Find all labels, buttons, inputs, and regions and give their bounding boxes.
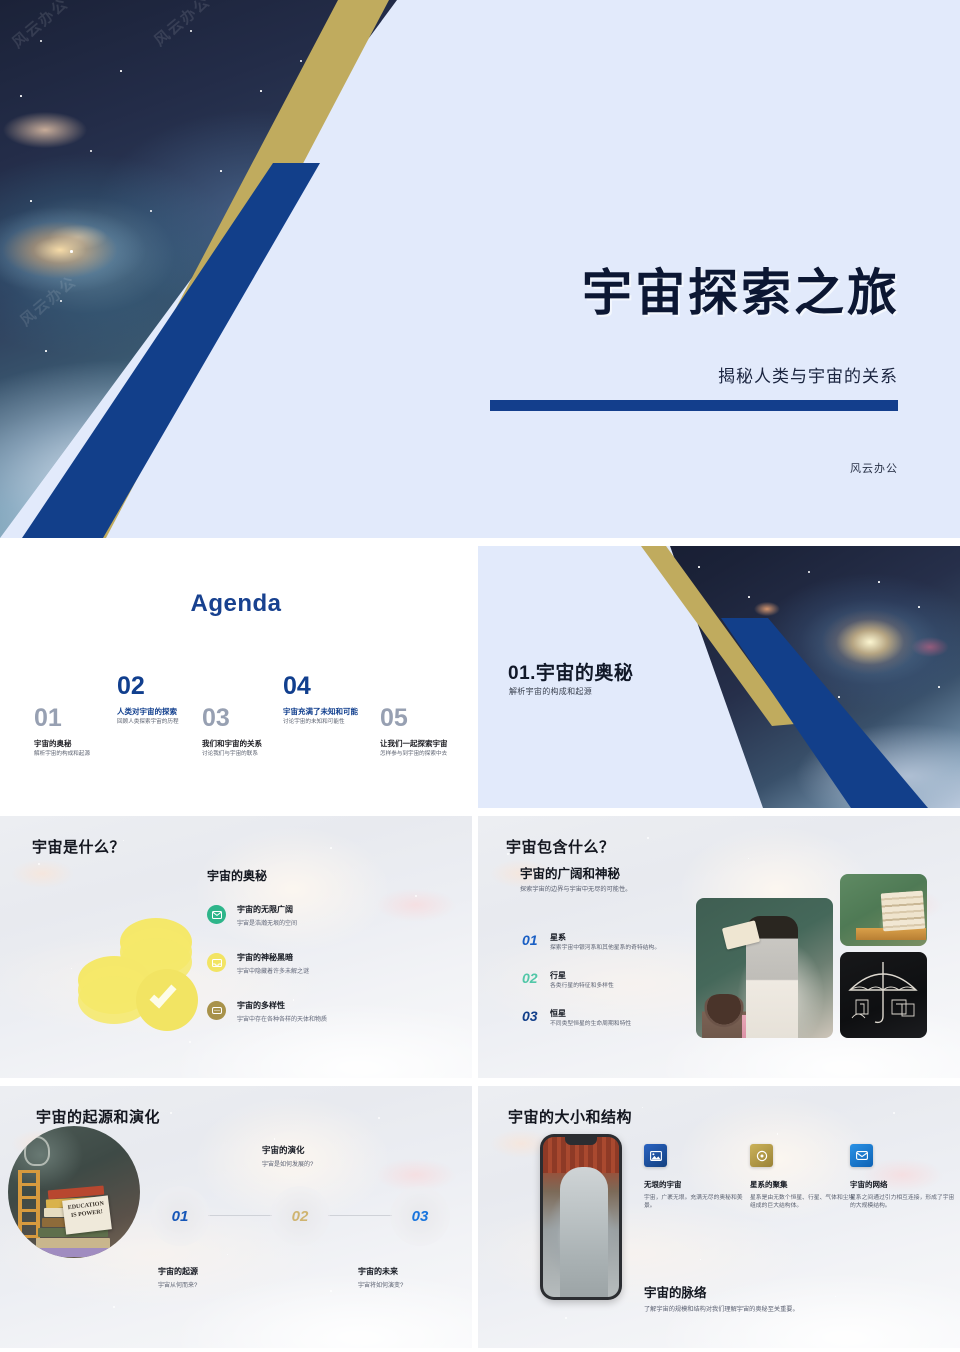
slide-agenda: Agenda 01 宇宙的奥秘 解析宇宙的构成和起源 02 人类对宇宙的探索 回… [0, 546, 472, 808]
timeline-node-01[interactable]: 01 [150, 1186, 210, 1246]
agenda-item-desc: 讨论宇宙的未知和可能性 [283, 719, 375, 726]
agenda-item-title: 我们和宇宙的关系 [202, 739, 294, 748]
coins-illustration [78, 912, 208, 1032]
section-heading: 宇宙的奥秘 [207, 867, 267, 884]
slide-size-structure: 宇宙的大小和结构 无垠的宇宙 宇宙，广袤无垠。充满无尽的奥秘和美景。 星系的聚集… [478, 1086, 960, 1348]
agenda-item-number: 01 [34, 706, 126, 731]
item-number: 01 [522, 932, 538, 948]
books-on-desk-photo [840, 874, 927, 946]
bullet-desc: 宇宙中隐藏着许多未解之谜 [237, 966, 437, 975]
numbered-item-01[interactable]: 01 星系 探索宇宙中银河系和其他星系的奇特结构。 [522, 932, 722, 953]
agenda-item-number: 03 [202, 706, 294, 731]
feature-item-1[interactable]: 无垠的宇宙 宇宙，广袤无垠。充满无尽的奥秘和美景。 [644, 1144, 750, 1211]
classroom-photo [696, 898, 833, 1038]
agenda-item-04[interactable]: 04 宇宙充满了未知和可能 讨论宇宙的未知和可能性 [283, 674, 375, 726]
author-label: 风云办公 [850, 460, 898, 476]
bullet-title: 宇宙的多样性 [237, 1000, 437, 1011]
umbrella-chalk-drawing-photo [840, 952, 927, 1038]
agenda-title: Agenda [0, 590, 472, 618]
title-divider-bar [490, 400, 898, 411]
feature-title: 星系的聚集 [750, 1179, 856, 1190]
image-icon [644, 1144, 667, 1167]
page-subtitle: 揭秘人类与宇宙的关系 [718, 362, 898, 387]
section-title: 01.宇宙的奥秘 [508, 658, 633, 685]
caption-desc: 宇宙将如何演变? [358, 1280, 403, 1289]
caption-title: 宇宙的未来 [358, 1266, 403, 1277]
slide-what-is-universe: 宇宙是什么？ 宇宙的奥秘 宇宙的无限广阔 宇宙是浩瀚无垠的空间 宇宙的神秘黑暗 … [0, 816, 472, 1078]
phone-notch [565, 1137, 597, 1145]
agenda-item-number: 02 [117, 674, 209, 699]
slide-section-divider: 01.宇宙的奥秘 解析宇宙的构成和起源 [478, 546, 960, 808]
ladder-graphic [18, 1170, 40, 1248]
watermark-text: 风云办公 [7, 0, 73, 52]
agenda-item-desc: 回顾人类探索宇宙的历程 [117, 719, 209, 726]
bullet-item[interactable]: 宇宙的无限广阔 宇宙是浩瀚无垠的空间 [207, 904, 437, 927]
agenda-item-05[interactable]: 05 让我们一起探索宇宙 怎样参与到宇宙的探索中去 [380, 706, 472, 758]
bullet-item[interactable]: 宇宙的神秘黑暗 宇宙中隐藏着许多未解之谜 [207, 952, 437, 975]
agenda-item-03[interactable]: 03 我们和宇宙的关系 讨论我们与宇宙的联系 [202, 706, 294, 758]
page-title: 宇宙是什么？ [32, 836, 125, 857]
feature-desc: 星系之间通过引力相互连接，形成了宇宙的大规模结构。 [850, 1194, 956, 1211]
evolution-desc: 宇宙是如何发展的? [262, 1159, 313, 1168]
timeline: 01 02 03 [150, 1186, 450, 1246]
timeline-caption-03: 宇宙的未来 宇宙将如何演变? [358, 1266, 403, 1289]
check-circle-icon [136, 969, 198, 1031]
caption-title: 宇宙的起源 [158, 1266, 198, 1277]
education-is-power-sign: EDUCATION IS POWER! [62, 1195, 112, 1234]
footer-desc: 了解宇宙的规模和结构对我们理解宇宙的奥秘至关重要。 [644, 1304, 799, 1313]
agenda-item-desc: 解析宇宙的构成和起源 [34, 751, 126, 758]
feature-item-2[interactable]: 星系的聚集 星系是由无数个恒星、行星、气体和尘埃组成的巨大结构体。 [750, 1144, 856, 1211]
bullet-item[interactable]: 宇宙的多样性 宇宙中存在各种各样的天体和物质 [207, 1000, 437, 1023]
evolution-heading: 宇宙的演化 [262, 1144, 305, 1156]
agenda-item-title: 人类对宇宙的探索 [117, 707, 209, 716]
agenda-item-desc: 怎样参与到宇宙的探索中去 [380, 751, 472, 758]
message-icon [207, 1001, 226, 1020]
agenda-item-number: 05 [380, 706, 472, 731]
agenda-item-title: 宇宙充满了未知和可能 [283, 707, 375, 716]
agenda-item-01[interactable]: 01 宇宙的奥秘 解析宇宙的构成和起源 [34, 706, 126, 758]
mail-icon [850, 1144, 873, 1167]
bullet-title: 宇宙的无限广阔 [237, 904, 437, 915]
agenda-item-desc: 讨论我们与宇宙的联系 [202, 751, 294, 758]
bullet-desc: 宇宙中存在各种各样的天体和物质 [237, 1014, 437, 1023]
footer-heading: 宇宙的脉络 [644, 1282, 707, 1301]
section-subheading: 探索宇宙的边界与宇宙中无尽的可能性。 [520, 884, 631, 893]
page-title: 宇宙的起源和演化 [36, 1106, 160, 1127]
slide-origin-evolution: 宇宙的起源和演化 EDUCATION IS POWER! 宇宙的演化 宇宙是如何… [0, 1086, 472, 1348]
page-title: 宇宙的大小和结构 [508, 1106, 632, 1127]
slide-universe-contains: 宇宙包含什么？ 宇宙的广阔和神秘 探索宇宙的边界与宇宙中无尽的可能性。 01 星… [478, 816, 960, 1078]
inbox-icon [207, 953, 226, 972]
bullet-title: 宇宙的神秘黑暗 [237, 952, 437, 963]
section-subtitle: 解析宇宙的构成和起源 [509, 686, 592, 697]
item-number: 02 [522, 970, 538, 986]
feature-desc: 星系是由无数个恒星、行星、气体和尘埃组成的巨大结构体。 [750, 1194, 856, 1211]
timeline-caption-01: 宇宙的起源 宇宙从何而来? [158, 1266, 198, 1289]
agenda-item-number: 04 [283, 674, 375, 699]
watermark-text: 风云办公 [149, 0, 215, 50]
item-number: 03 [522, 1008, 538, 1024]
slide-title: 风云办公 风云办公 风云办公 风云办公 宇宙探索之旅 揭秘人类与宇宙的关系 风云… [0, 0, 960, 538]
slide-deck: 风云办公 风云办公 风云办公 风云办公 宇宙探索之旅 揭秘人类与宇宙的关系 风云… [0, 0, 960, 1352]
numbered-item-03[interactable]: 03 恒星 不同类型恒星的生命周期和特性 [522, 1008, 722, 1029]
page-title: 宇宙探索之旅 [582, 268, 900, 318]
feature-title: 无垠的宇宙 [644, 1179, 750, 1190]
agenda-item-title: 宇宙的奥秘 [34, 739, 126, 748]
bullet-desc: 宇宙是浩瀚无垠的空间 [237, 918, 437, 927]
page-title: 宇宙包含什么？ [506, 836, 615, 857]
timeline-node-03[interactable]: 03 [390, 1186, 450, 1246]
feature-title: 宇宙的网络 [850, 1179, 956, 1190]
agenda-items: 01 宇宙的奥秘 解析宇宙的构成和起源 02 人类对宇宙的探索 回顾人类探索宇宙… [0, 674, 472, 794]
section-heading: 宇宙的广阔和神秘 [520, 863, 620, 882]
numbered-item-02[interactable]: 02 行星 各类行星的特征和多样性 [522, 970, 722, 991]
watermark-text: 风云办公 [15, 271, 81, 331]
phone-mockup [540, 1134, 622, 1300]
record-icon [750, 1144, 773, 1167]
lightbulb-icon [24, 1136, 50, 1166]
mail-icon [207, 905, 226, 924]
feature-item-3[interactable]: 宇宙的网络 星系之间通过引力相互连接，形成了宇宙的大规模结构。 [850, 1144, 956, 1211]
feature-desc: 宇宙，广袤无垠。充满无尽的奥秘和美景。 [644, 1194, 750, 1211]
books-education-photo: EDUCATION IS POWER! [8, 1126, 140, 1258]
agenda-item-02[interactable]: 02 人类对宇宙的探索 回顾人类探索宇宙的历程 [117, 674, 209, 726]
caption-desc: 宇宙从何而来? [158, 1280, 198, 1289]
agenda-item-title: 让我们一起探索宇宙 [380, 739, 472, 748]
statue-photo [543, 1137, 619, 1297]
timeline-node-02[interactable]: 02 [270, 1186, 330, 1246]
